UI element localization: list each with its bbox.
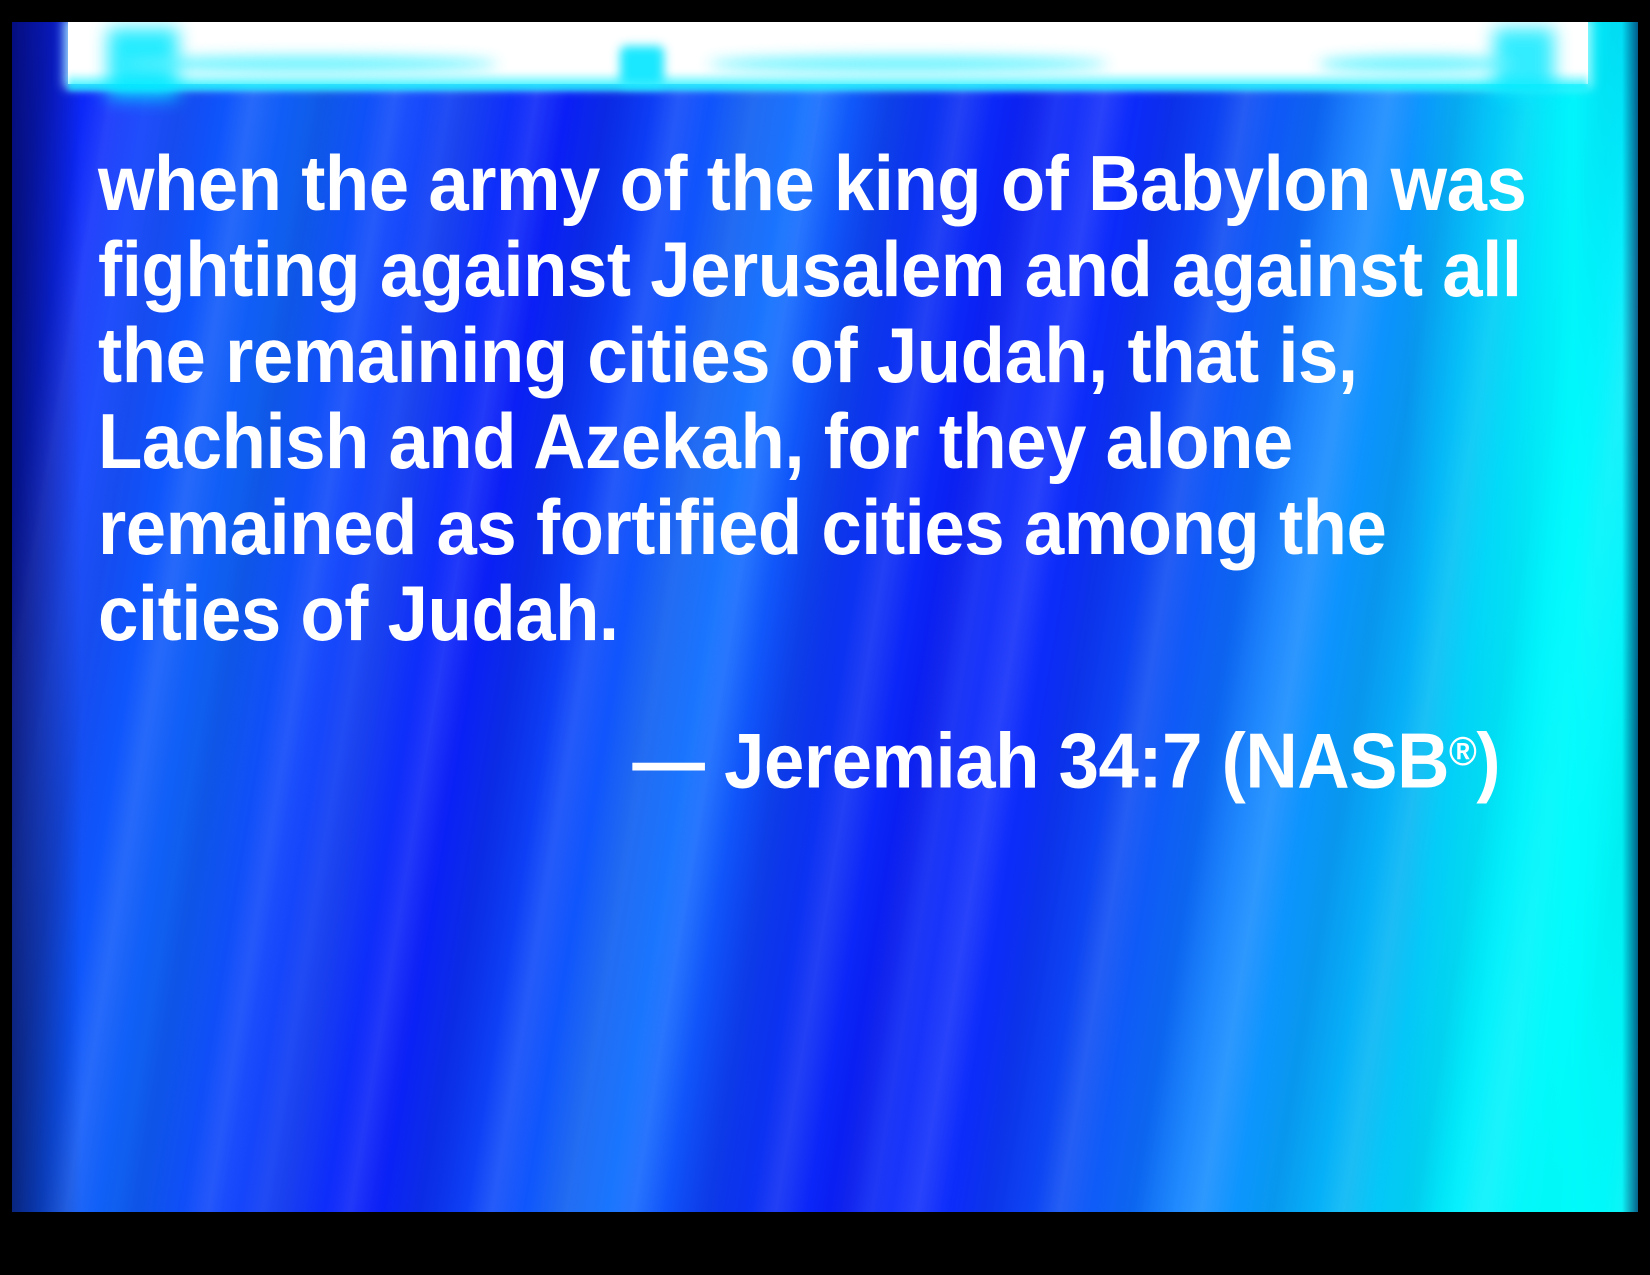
citation-translation: NASB	[1245, 716, 1449, 804]
registered-trademark-icon: ®	[1449, 728, 1476, 774]
header-wisp-3	[1318, 56, 1518, 72]
citation-book: Jeremiah	[724, 716, 1039, 804]
verse-text-block: when the army of the king of Babylon was…	[98, 140, 1518, 803]
verse-line-2: fighting against Jerusalem and against a…	[98, 226, 1419, 312]
verse-line-6: cities of Judah.	[98, 570, 1419, 656]
citation-close-paren: )	[1476, 716, 1500, 804]
citation-chapter-verse: 34:7	[1059, 716, 1202, 804]
verse-line-1: when the army of the king of Babylon was	[98, 140, 1419, 226]
header-center-notch	[620, 46, 664, 86]
slide-root: when the army of the king of Babylon was…	[0, 0, 1650, 1275]
verse-line-5: remained as fortified cities among the	[98, 484, 1419, 570]
header-white-band	[68, 22, 1588, 84]
verse-citation-inner: — Jeremiah 34:7 (NASB®)	[632, 708, 1500, 803]
slide-canvas: when the army of the king of Babylon was…	[12, 22, 1638, 1212]
citation-dash: —	[632, 716, 704, 804]
header-wisp-2	[708, 56, 1108, 72]
header-wisp-1	[118, 56, 498, 72]
citation-space	[704, 716, 724, 804]
citation-open-paren: (	[1222, 716, 1246, 804]
verse-line-4: Lachish and Azekah, for they alone	[98, 398, 1419, 484]
verse-line-3: the remaining cities of Judah, that is,	[98, 312, 1419, 398]
verse-citation: — Jeremiah 34:7 (NASB®)	[98, 708, 1518, 803]
citation-space-3	[1202, 716, 1222, 804]
citation-space-2	[1039, 716, 1059, 804]
